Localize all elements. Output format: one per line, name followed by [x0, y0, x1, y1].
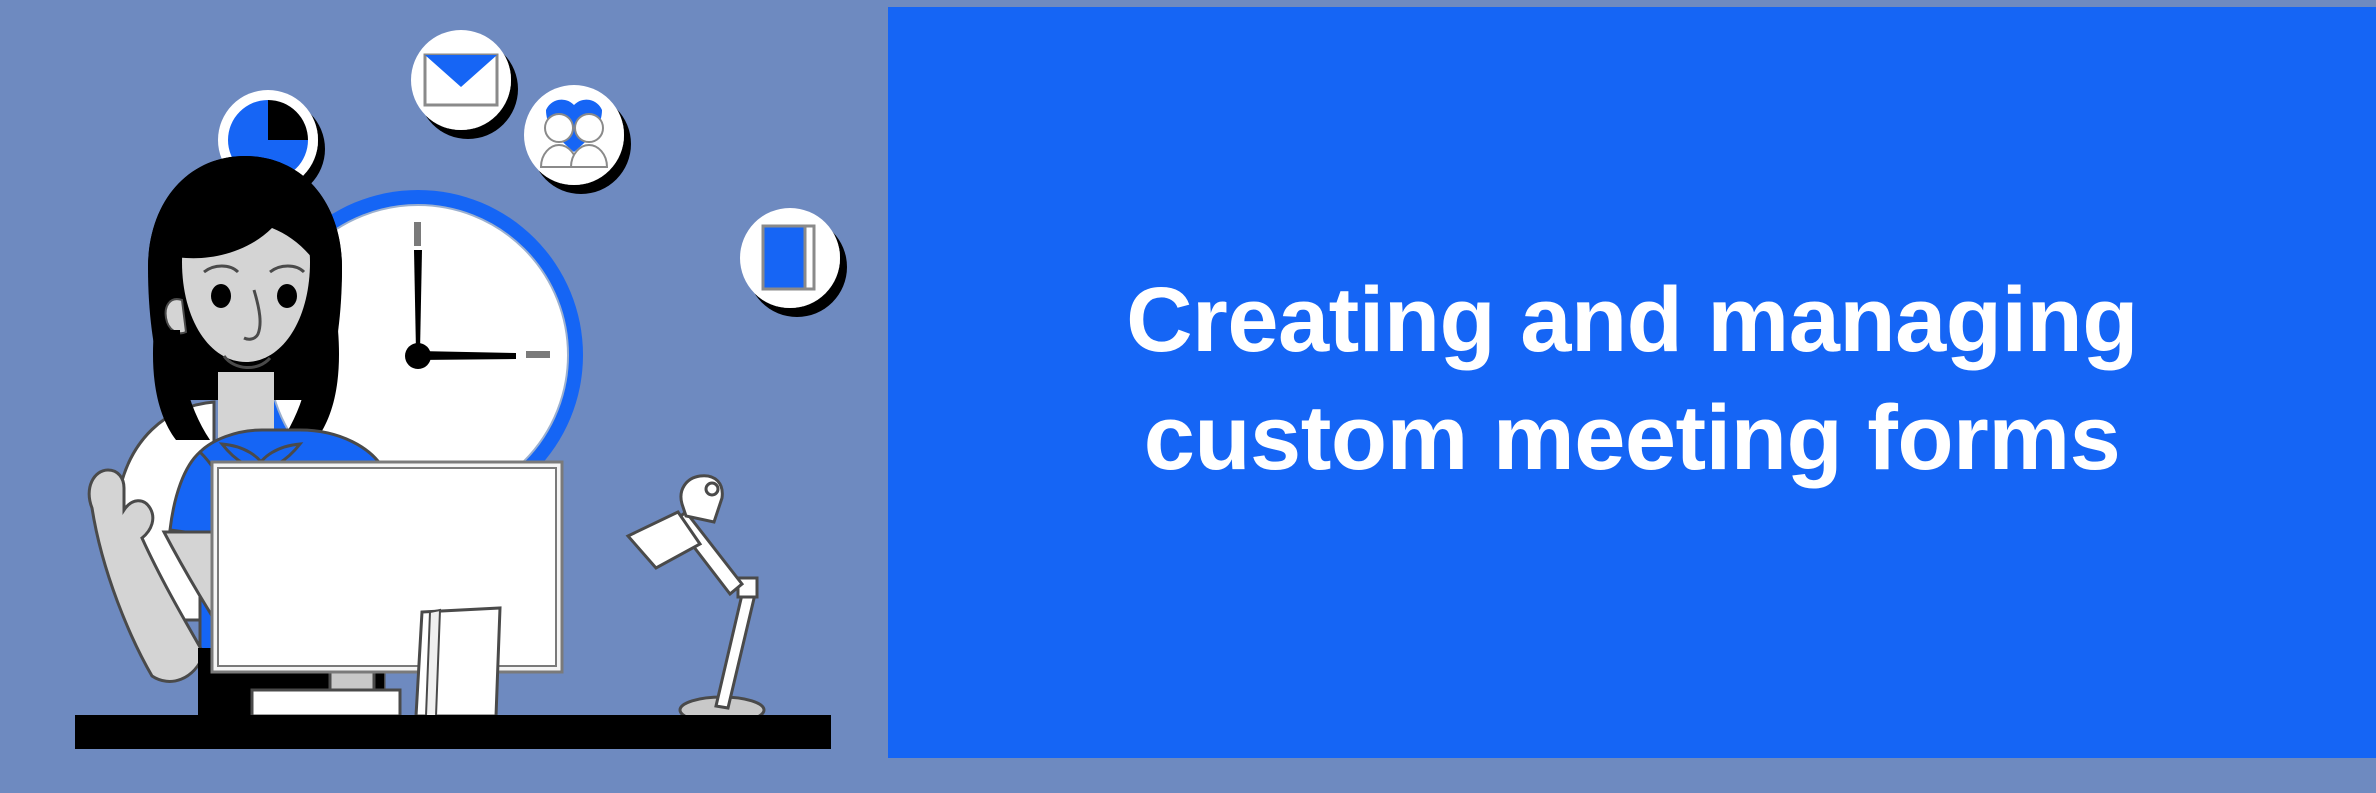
neck [218, 372, 274, 438]
lamp-switch [706, 483, 718, 495]
eye-right [277, 284, 297, 308]
page-title: Creating and managing custom meeting for… [982, 262, 2282, 504]
title-panel: Creating and managing custom meeting for… [888, 7, 2376, 758]
clock-center-pin [405, 343, 431, 369]
monitor-screen-inner [218, 468, 556, 666]
book-icon [740, 208, 840, 308]
title-line-2: custom meeting forms [982, 380, 2282, 498]
eye-left [211, 284, 231, 308]
lamp-neck [681, 476, 722, 522]
illustration-panel [0, 0, 888, 793]
desk-illustration [0, 0, 888, 793]
people-group-icon [524, 85, 624, 185]
clock-tick-12 [414, 222, 421, 246]
clock-tick-3 [526, 351, 550, 358]
monitor-stand-foot [252, 690, 400, 716]
envelope-icon [411, 30, 511, 130]
title-line-1: Creating and managing [982, 262, 2282, 380]
keyboard [416, 608, 500, 716]
article-header-banner: Creating and managing custom meeting for… [0, 0, 2376, 793]
desk-surface [75, 715, 831, 749]
